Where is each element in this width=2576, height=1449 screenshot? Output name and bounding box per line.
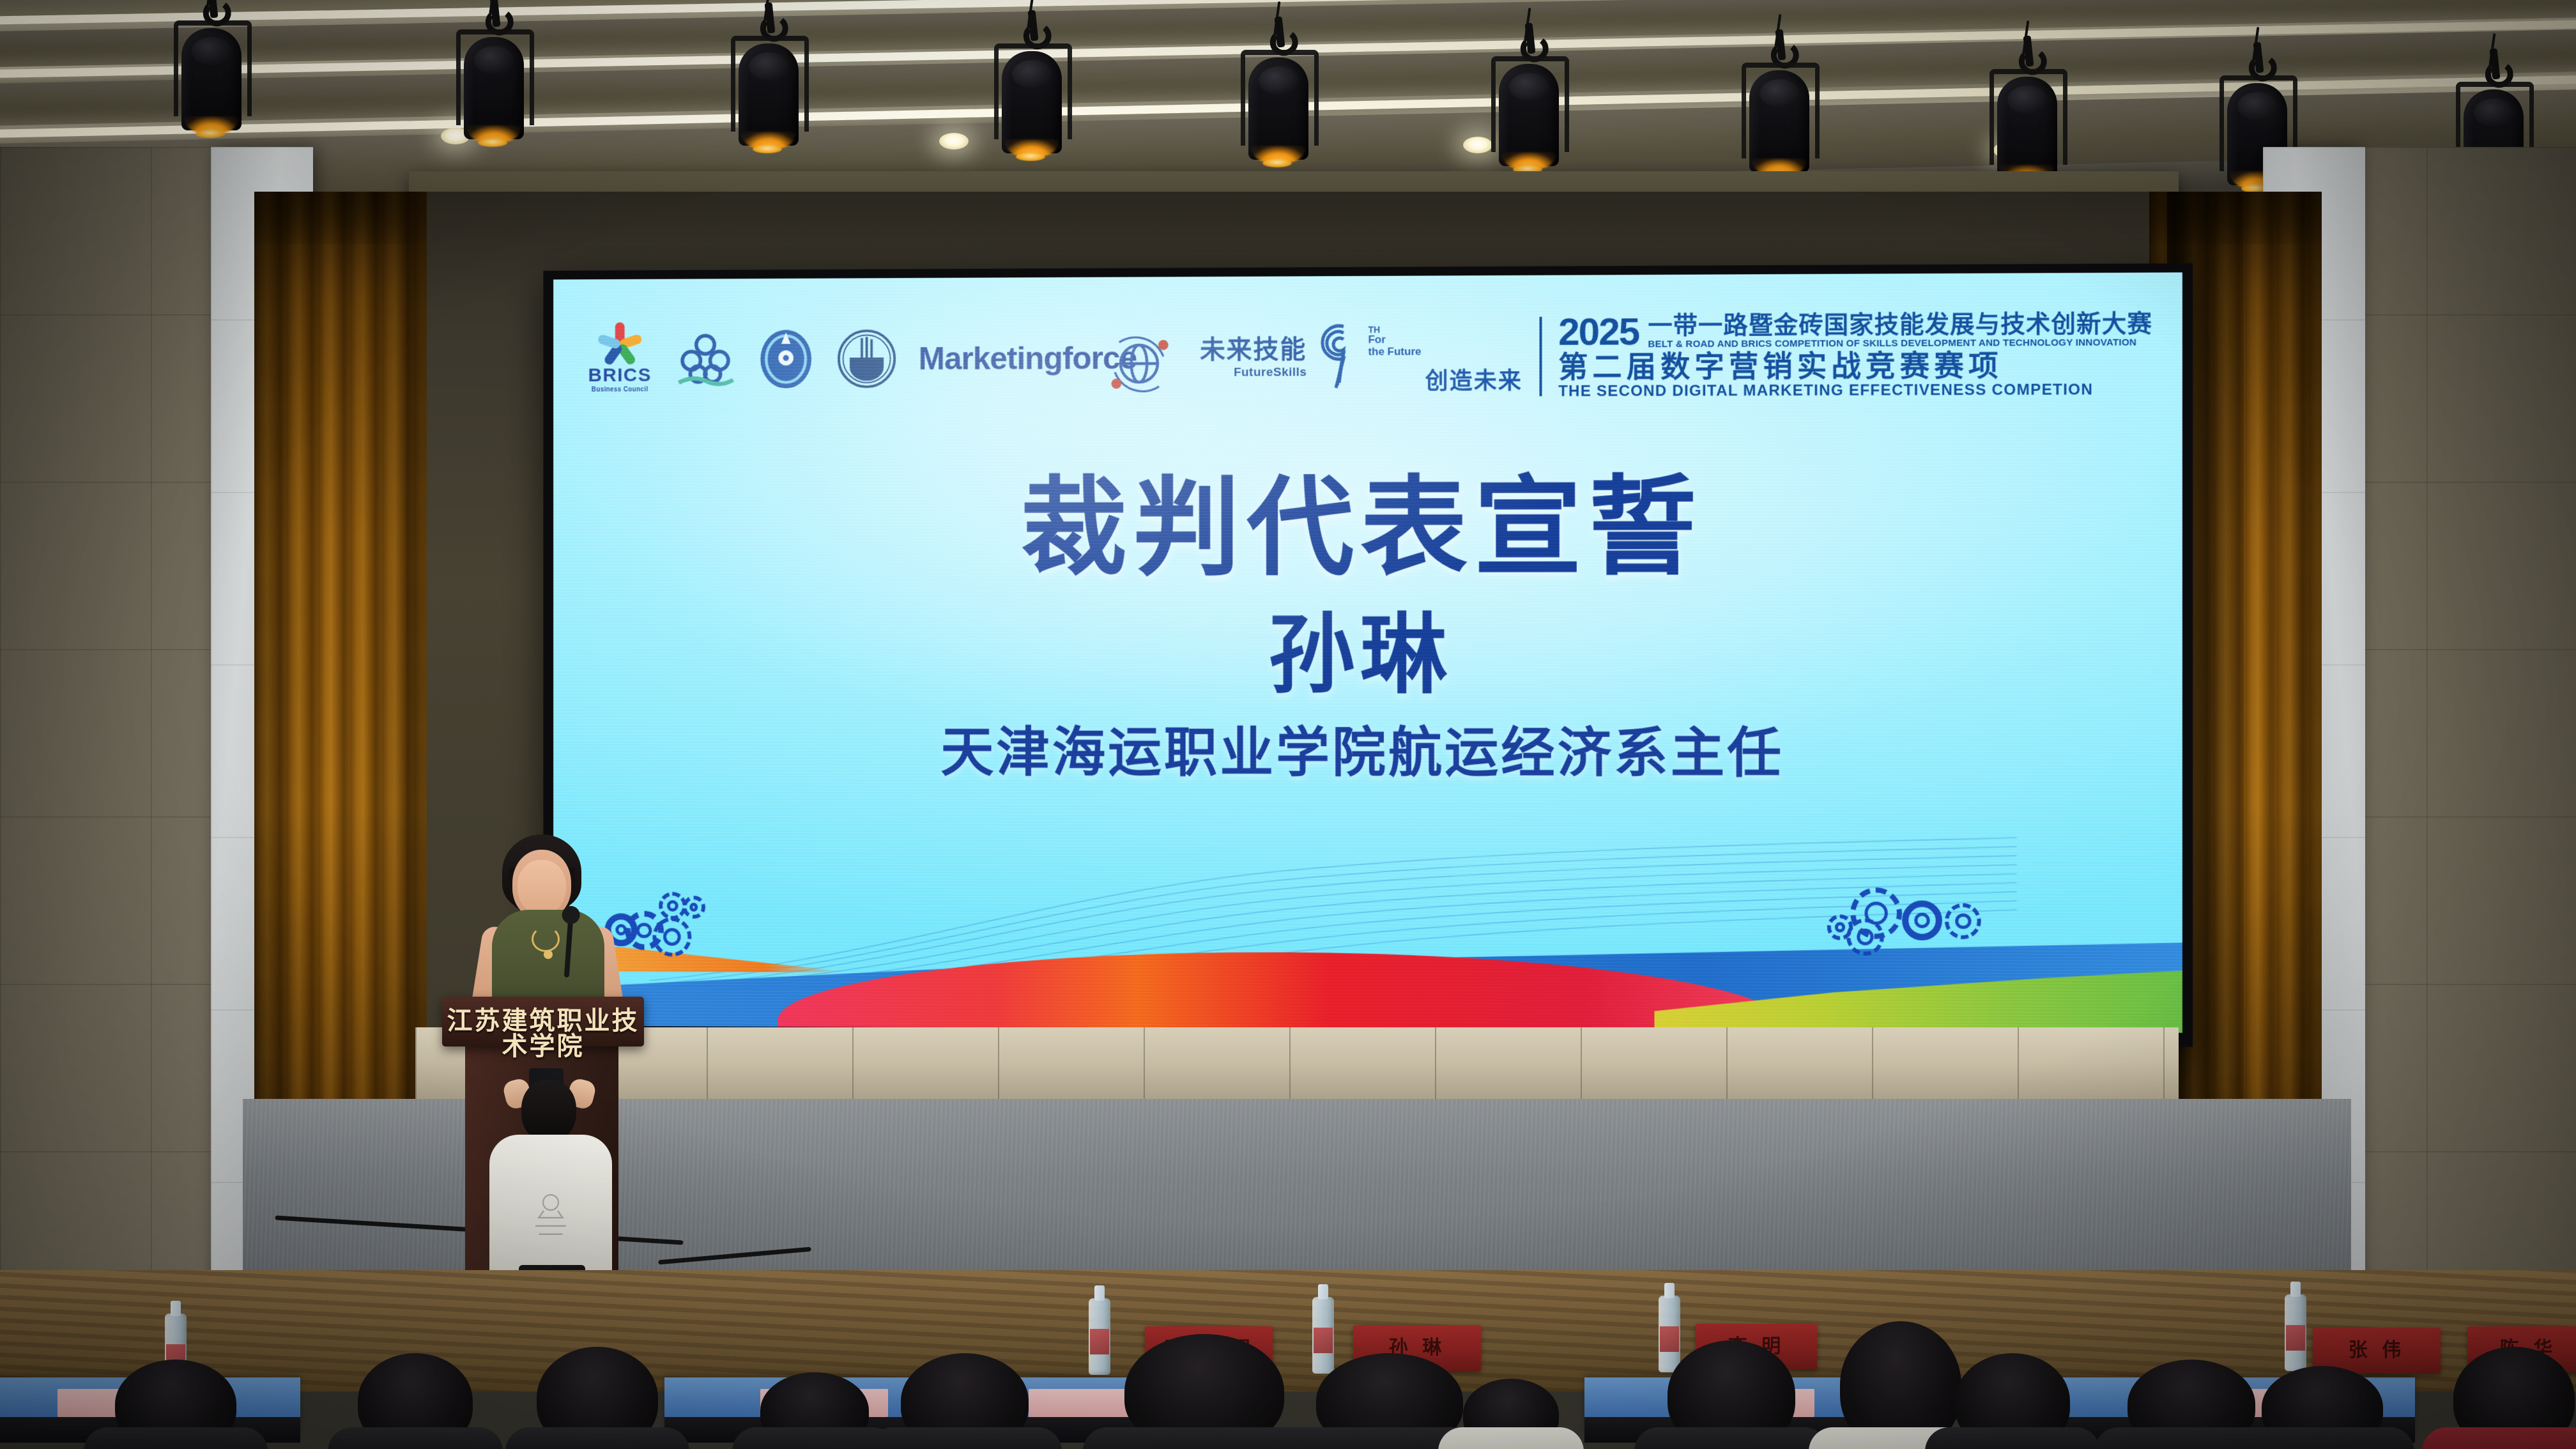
- gear-cluster-right: [1827, 886, 2009, 970]
- stage-light: [1739, 46, 1822, 180]
- stage-light: [1238, 33, 1321, 167]
- audience-head: [1316, 1353, 1463, 1449]
- futureskills-en-label: FutureSkills: [1234, 366, 1307, 378]
- event-en-line2: THE SECOND DIGITAL MARKETING EFFECTIVENE…: [1558, 382, 2152, 399]
- brics-logo: BRICS Business Council: [586, 326, 654, 393]
- event-cn-line1: 一带一路暨金砖国家技能发展与技术创新大赛: [1648, 312, 2152, 338]
- event-cn-line2: 第二届数字营销实战竞赛赛项: [1558, 349, 2152, 381]
- water-bottle: [2285, 1294, 2306, 1371]
- speaker-necklace: [532, 926, 560, 952]
- speaker-face: [517, 860, 566, 915]
- stage-light: [992, 27, 1075, 161]
- water-bottle: [1089, 1298, 1110, 1375]
- audience-head: [115, 1360, 236, 1449]
- speaker-at-podium: [473, 831, 620, 1022]
- audience-head: [760, 1372, 869, 1449]
- audience-head: [537, 1347, 658, 1449]
- stage-light: [454, 13, 537, 147]
- led-screen: BRICS Business Council: [543, 263, 2193, 1047]
- ceiling-downlight: [939, 133, 969, 149]
- name-plate-label: 张 伟: [2349, 1341, 2405, 1360]
- gear-icon: [659, 892, 686, 920]
- marketingforce-logo: Marketingforce: [919, 342, 1137, 374]
- speaker-name: 孙琳: [553, 608, 2182, 704]
- audience-head: [1955, 1353, 2070, 1449]
- audience-head: [1667, 1340, 1795, 1449]
- conference-stage-photo: BRICS Business Council: [0, 0, 2576, 1449]
- audience-front-row: 王 诗 桐 孙 琳 李 明 张 伟 陈 华: [0, 1270, 2576, 1449]
- stage-light: [1489, 40, 1572, 174]
- lockup-divider: [1539, 317, 1542, 396]
- speaker-role: 天津海运职业学院航运经济系主任: [553, 723, 2182, 783]
- audience-head: [2262, 1366, 2383, 1449]
- audience-head: [901, 1353, 1029, 1449]
- knot-emblem-icon: [675, 329, 736, 390]
- gear-icon: [1850, 887, 1902, 939]
- podium-top: 江苏建筑职业技术学院: [442, 997, 644, 1046]
- stage-curtain-left: [254, 192, 427, 1176]
- institute-seal-icon: [836, 328, 897, 390]
- gear-icon: [1902, 900, 1942, 940]
- futureskills-cn-label: 未来技能: [1200, 336, 1307, 364]
- stage-light: [728, 19, 811, 153]
- futureskills-logo: 未来技能 FutureSkills: [1200, 321, 1522, 394]
- brics-label: BRICS: [588, 366, 652, 385]
- podium-sign-label: 江苏建筑职业技术学院: [442, 1008, 644, 1059]
- event-year-label: 2025: [1558, 314, 1639, 349]
- brics-star-icon: [600, 326, 640, 364]
- brics-skills-emblem-logo: [675, 329, 736, 390]
- slide-decoration: [553, 817, 2182, 1033]
- sponsor-logo-row: BRICS Business Council: [586, 324, 1137, 393]
- event-title-lockup: 未来技能 FutureSkills: [1200, 312, 2152, 401]
- water-bottle: [1312, 1297, 1334, 1374]
- audience-head: [2453, 1347, 2575, 1449]
- gear-icon: [1945, 903, 1981, 940]
- jacket-back-graphic: [521, 1187, 580, 1248]
- star-emblem-logo: [757, 327, 815, 391]
- globe-orbit-icon: [1103, 328, 1174, 399]
- gear-cluster-left: [604, 892, 724, 969]
- slide-header: BRICS Business Council: [586, 306, 2152, 407]
- create-future-label: 创造未来: [1425, 369, 1522, 393]
- stage-light: [1987, 52, 2070, 187]
- presentation-slide: BRICS Business Council: [553, 272, 2182, 1032]
- star-oval-emblem-icon: [757, 327, 815, 391]
- stage-apron-panels: [415, 1027, 2179, 1103]
- audience-head: [1463, 1379, 1559, 1449]
- stage-light: [171, 4, 254, 138]
- gear-icon: [682, 896, 705, 919]
- nine-ordinal-icon: [1310, 321, 1368, 393]
- institute-emblem-logo: [836, 328, 897, 390]
- event-en-line1: BELT & ROAD AND BRICS COMPETITION OF SKI…: [1648, 337, 2152, 349]
- slide-title: 裁判代表宣誓: [553, 466, 2182, 588]
- ordinal-suffix-label: TH: [1368, 325, 1421, 334]
- competition-title-block: 2025 一带一路暨金砖国家技能发展与技术创新大赛 BELT & ROAD AN…: [1558, 312, 2152, 399]
- audience-head: [1124, 1334, 1284, 1449]
- for-the-future-line1: For: [1368, 334, 1421, 346]
- filming-person-head: [521, 1080, 576, 1142]
- brics-sublabel: Business Council: [592, 387, 648, 393]
- for-the-future-line2: the Future: [1368, 346, 1421, 358]
- audience-head: [358, 1353, 473, 1449]
- water-bottle: [1659, 1296, 1680, 1372]
- gear-icon: [652, 917, 691, 957]
